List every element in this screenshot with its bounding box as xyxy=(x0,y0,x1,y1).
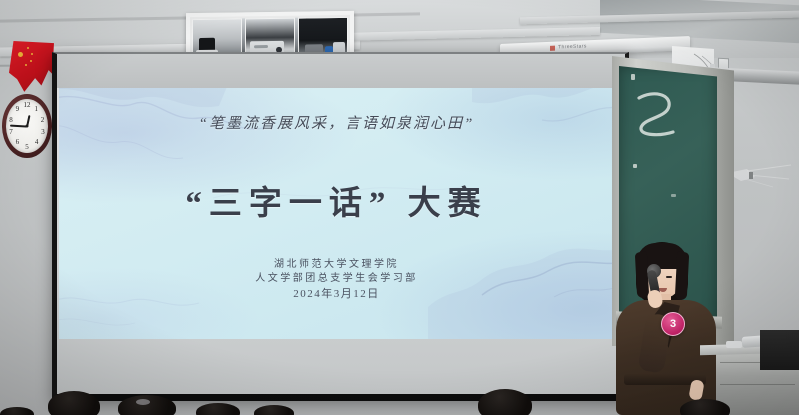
projector-screen: “笔墨流香展风采，言语如泉润心田” “三字一话” 大赛 湖北师范大学文理学院 人… xyxy=(52,52,629,401)
clock-number: 6 xyxy=(16,138,20,146)
clock-number: 2 xyxy=(41,116,45,124)
chalk-mark xyxy=(631,88,679,144)
audience-head xyxy=(48,391,100,415)
speaker-person: 3 xyxy=(598,240,728,415)
slide-subtitle: “笔墨流香展风采，言语如泉润心田” xyxy=(59,112,614,133)
slide-footer: 湖北师范大学文理学院 人文学部团总支学生会学习部 2024年3月12日 xyxy=(59,258,614,302)
slide-footer-line-2: 人文学部团总支学生会学习部 xyxy=(59,272,614,286)
clock-number: 1 xyxy=(34,105,38,113)
housing-brand-mark xyxy=(550,46,555,51)
classroom-photo-scene: 12 1 2 3 4 5 6 7 8 9 xyxy=(0,0,799,415)
audience-head xyxy=(118,395,176,415)
clock-number: 12 xyxy=(24,101,31,109)
chalk-dust xyxy=(631,74,635,80)
audience-head xyxy=(196,403,240,415)
hair-side-right xyxy=(675,252,689,301)
contestant-number-badge: 3 xyxy=(661,312,685,336)
presentation-slide: “笔墨流香展风采，言语如泉润心田” “三字一话” 大赛 湖北师范大学文理学院 人… xyxy=(59,88,614,339)
ink-wash-topright xyxy=(472,88,614,188)
right-dark-panel xyxy=(760,330,799,370)
clock-face: 12 1 2 3 4 5 6 7 8 9 xyxy=(6,99,48,153)
chalk-dust xyxy=(633,164,637,168)
slide-date: 2024年3月12日 xyxy=(59,286,614,302)
clock-center-pin xyxy=(26,125,29,128)
screen-top-strip xyxy=(57,54,625,88)
slide-footer-line-1: 湖北师范大学文理学院 xyxy=(59,258,614,272)
clock-number: 8 xyxy=(9,116,13,124)
clock-number: 3 xyxy=(41,128,45,136)
eye xyxy=(666,276,672,278)
audience-head xyxy=(0,407,34,415)
desk-object-small xyxy=(726,341,742,348)
housing-logo-text: ThreeStars xyxy=(558,43,587,50)
audience-head xyxy=(478,389,532,415)
audience-head xyxy=(680,399,730,415)
clock-number: 7 xyxy=(9,128,13,136)
slide-title: “三字一话” 大赛 xyxy=(59,176,614,224)
chalk-dust xyxy=(671,194,676,197)
clock-number: 5 xyxy=(25,143,29,151)
audience-head xyxy=(254,405,294,415)
clock-number: 9 xyxy=(16,105,20,113)
wall-crack-mark xyxy=(725,155,795,195)
wall-clock: 12 1 2 3 4 5 6 7 8 9 xyxy=(2,94,52,158)
clock-number: 4 xyxy=(35,138,39,146)
